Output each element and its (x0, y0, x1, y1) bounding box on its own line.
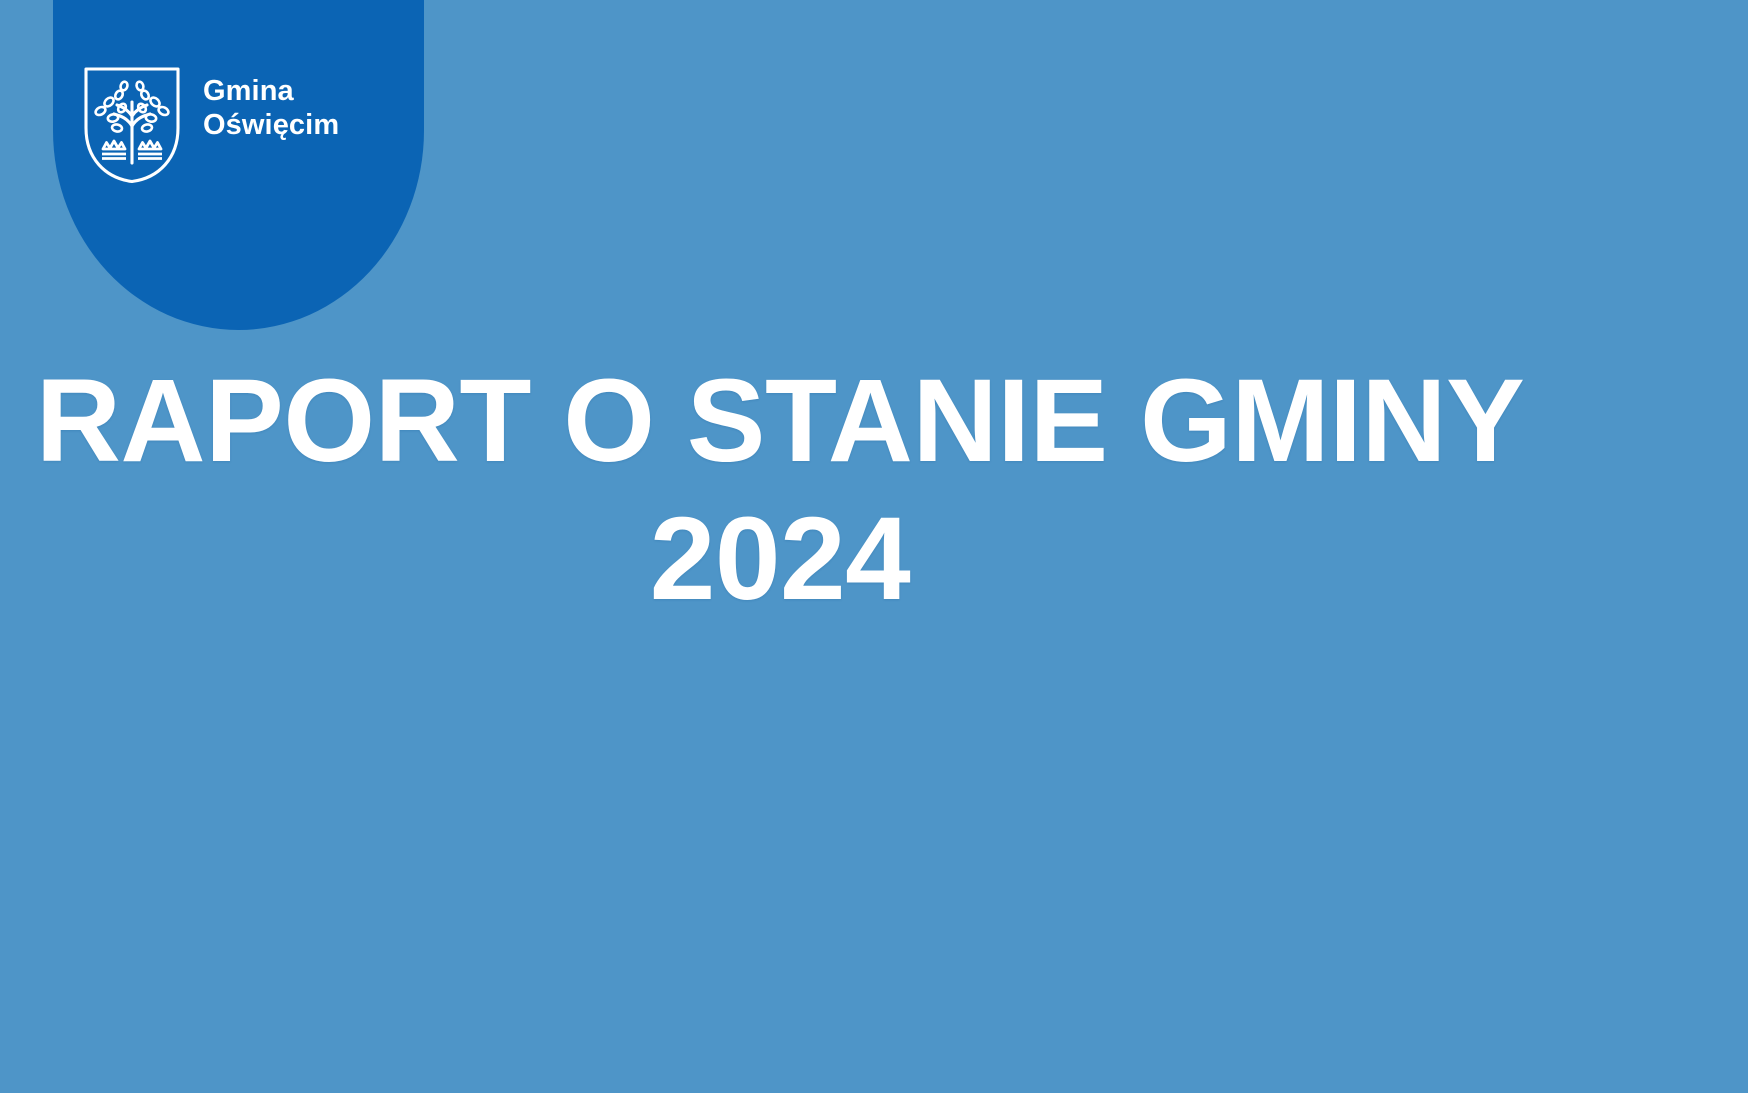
page-title-year: 2024 (0, 490, 1560, 628)
title-slide: Gmina Oświęcim RAPORT O STANIE GMINY 202… (0, 0, 1748, 1093)
logo-wordmark-line-2: Oświęcim (203, 109, 339, 143)
page-title-main: RAPORT O STANIE GMINY (0, 352, 1560, 490)
oswiecim-coat-of-arms-icon (83, 66, 181, 184)
logo-wordmark: Gmina Oświęcim (203, 75, 339, 142)
logo-badge: Gmina Oświęcim (53, 0, 424, 330)
logo-wordmark-line-1: Gmina (203, 75, 294, 107)
page-title: RAPORT O STANIE GMINY 2024 (0, 352, 1560, 628)
logo-lockup: Gmina Oświęcim (53, 0, 424, 330)
